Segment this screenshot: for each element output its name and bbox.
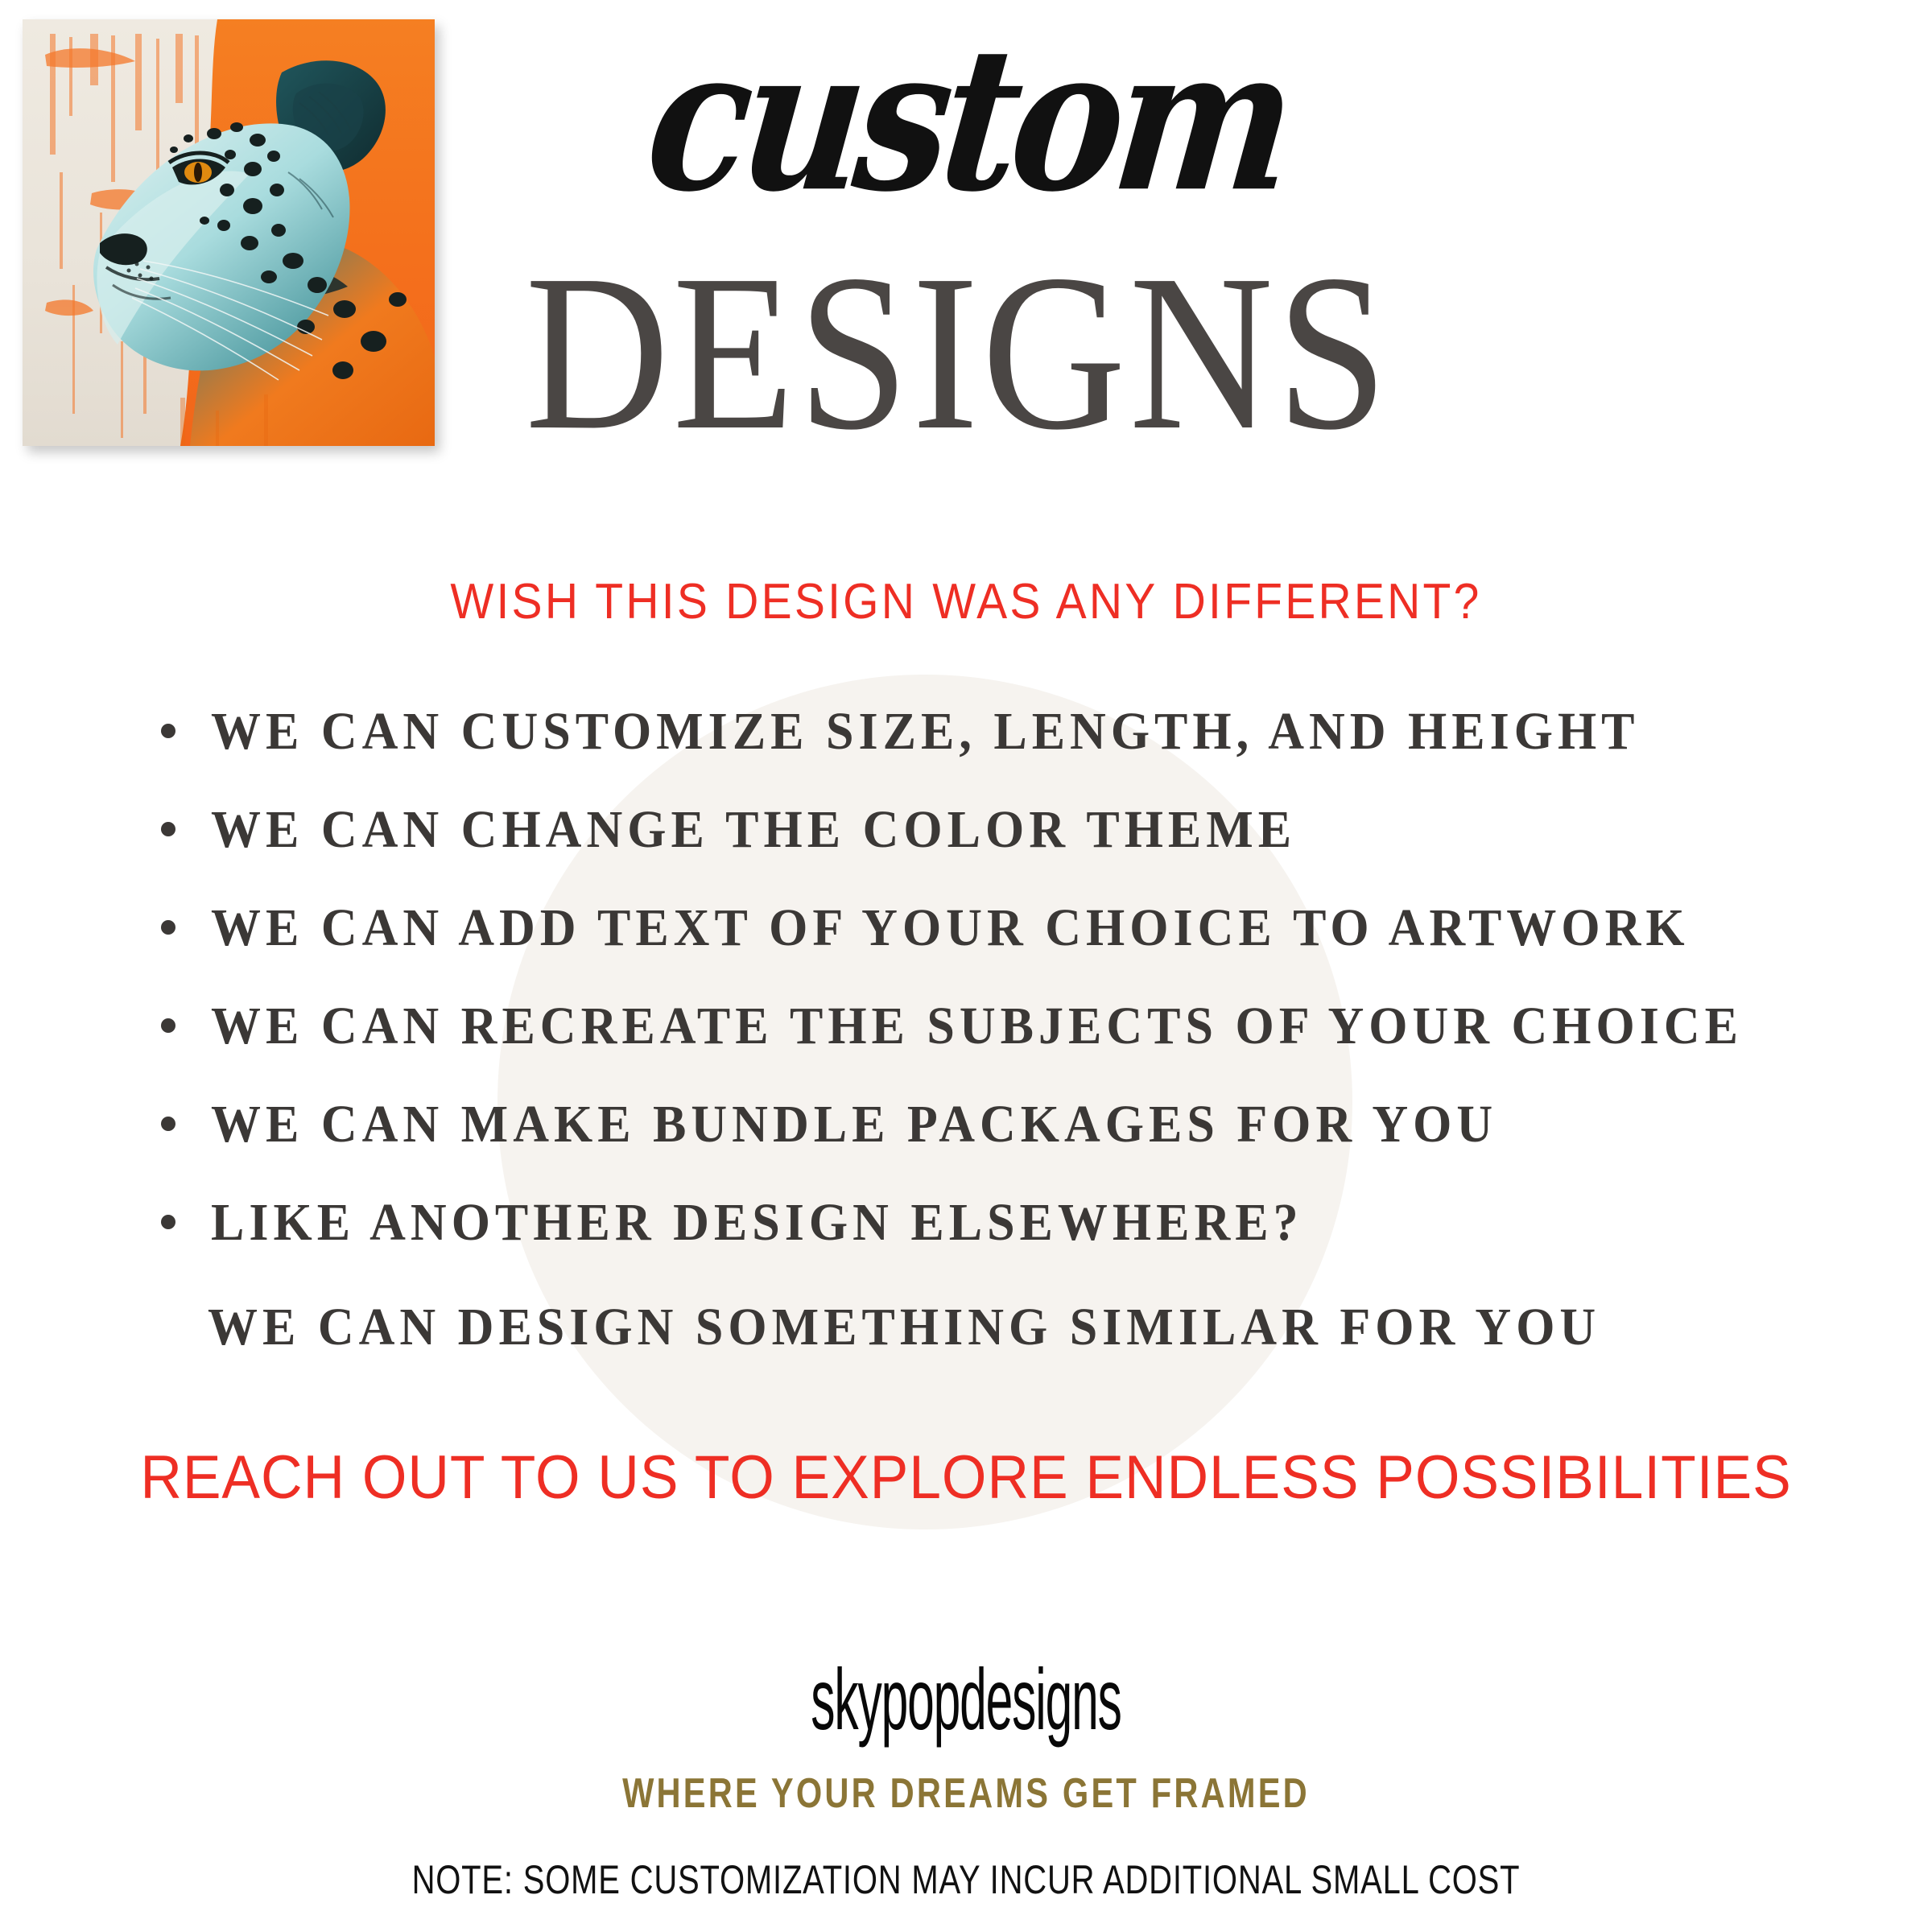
list-item: WE CAN CHANGE THE COLOR THEME — [161, 805, 1876, 855]
subtitle-question: WISH THIS DESIGN WAS ANY DIFFERENT? — [77, 573, 1855, 630]
promo-poster: custom DESIGNS WISH THIS DESIGN WAS ANY … — [0, 0, 1932, 1932]
feature-text: WE CAN CUSTOMIZE SIZE, LENGTH, AND HEIGH… — [211, 705, 1640, 758]
bullet-dot-icon — [161, 822, 175, 836]
list-item: WE CAN MAKE BUNDLE PACKAGES FOR YOU — [161, 1100, 1876, 1150]
call-to-action-text[interactable]: REACH OUT TO US TO EXPLORE ENDLESS POSSI… — [58, 1443, 1874, 1513]
leopard-artwork-image — [23, 19, 435, 446]
artwork-thumbnail[interactable] — [23, 19, 435, 446]
feature-list: WE CAN CUSTOMIZE SIZE, LENGTH, AND HEIGH… — [161, 707, 1876, 1296]
feature-text: WE CAN RECREATE THE SUBJECTS OF YOUR CHO… — [211, 1000, 1743, 1053]
headline-block: custom DESIGNS — [435, 56, 1481, 452]
bullet-dot-icon — [161, 724, 175, 738]
headline-serif-word: DESIGNS — [435, 241, 1481, 464]
headline-script-word: custom — [435, 28, 1501, 214]
bullet-dot-icon — [161, 1117, 175, 1131]
list-item: WE CAN RECREATE THE SUBJECTS OF YOUR CHO… — [161, 1001, 1876, 1051]
brand-tagline: WHERE YOUR DREAMS GET FRAMED — [193, 1769, 1739, 1818]
list-item: WE CAN ADD TEXT OF YOUR CHOICE TO ARTWOR… — [161, 903, 1876, 953]
feature-text: WE CAN MAKE BUNDLE PACKAGES FOR YOU — [211, 1098, 1497, 1151]
bullet-dot-icon — [161, 1215, 175, 1229]
brand-logo-text: skypopdesigns — [425, 1649, 1507, 1749]
footnote-text: NOTE: SOME CUSTOMIZATION MAY INCUR ADDIT… — [193, 1856, 1739, 1903]
bullet-dot-icon — [161, 1018, 175, 1033]
feature-continuation-text: WE CAN DESIGN SOMETHING SIMILAR FOR YOU — [208, 1301, 1600, 1354]
list-item: WE CAN CUSTOMIZE SIZE, LENGTH, AND HEIGH… — [161, 707, 1876, 757]
feature-text: WE CAN CHANGE THE COLOR THEME — [211, 803, 1296, 857]
feature-text: LIKE ANOTHER DESIGN ELSEWHERE? — [211, 1196, 1303, 1249]
feature-text: WE CAN ADD TEXT OF YOUR CHOICE TO ARTWOR… — [211, 902, 1690, 955]
bullet-dot-icon — [161, 920, 175, 935]
list-item: LIKE ANOTHER DESIGN ELSEWHERE? — [161, 1198, 1876, 1248]
